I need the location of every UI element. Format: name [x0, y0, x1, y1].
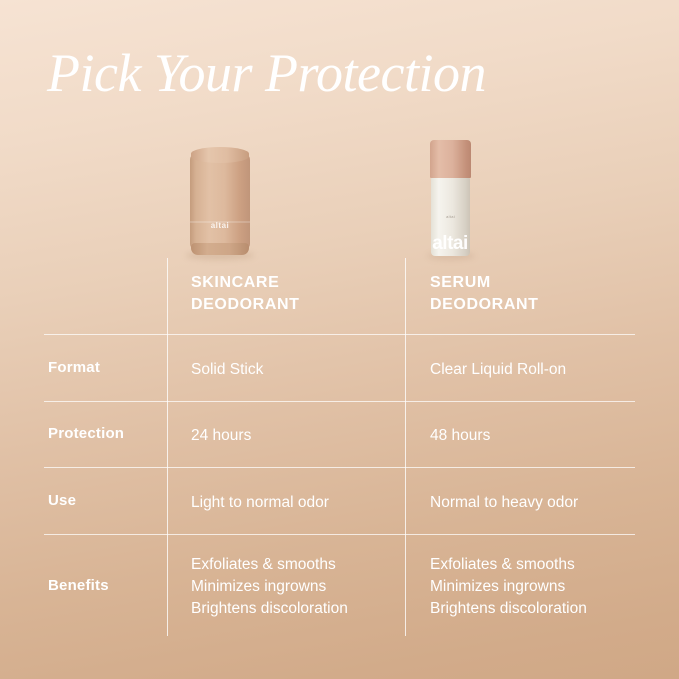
table-row-label-format: Format: [48, 359, 100, 376]
serum-cap: [430, 140, 471, 178]
table-row-divider-1: [44, 334, 635, 335]
table-column-divider-2: [405, 258, 406, 636]
stick-body: [190, 153, 250, 249]
table-row-label-benefits: Benefits: [48, 577, 109, 594]
stick-cap: [191, 147, 249, 163]
promo-canvas: Pick Your Protection altai altai altai S…: [0, 0, 679, 679]
table-row-label-use: Use: [48, 492, 76, 509]
table-cell-format-skincare: Solid Stick: [191, 359, 263, 381]
product-images-row: altai altai altai: [0, 0, 679, 260]
table-cell-benefits-skincare: Exfoliates & smooths Minimizes ingrowns …: [191, 554, 348, 620]
serum-brand-logo: altai: [426, 234, 474, 254]
serum-deodorant-product-image: altai altai: [430, 140, 471, 256]
table-cell-format-serum: Clear Liquid Roll-on: [430, 359, 566, 381]
table-row-divider-2: [44, 401, 635, 402]
table-cell-protection-serum: 48 hours: [430, 425, 490, 447]
table-cell-benefits-serum: Exfoliates & smooths Minimizes ingrowns …: [430, 554, 587, 620]
table-cell-use-skincare: Light to normal odor: [191, 492, 329, 514]
table-row-label-protection: Protection: [48, 425, 124, 442]
table-column-divider-1: [167, 258, 168, 636]
table-column-header-serum-deodorant: SERUM DEODORANT: [430, 272, 539, 316]
skincare-deodorant-product-image: altai: [190, 147, 250, 255]
table-cell-use-serum: Normal to heavy odor: [430, 492, 578, 514]
table-cell-protection-skincare: 24 hours: [191, 425, 251, 447]
table-row-divider-4: [44, 534, 635, 535]
table-row-divider-3: [44, 467, 635, 468]
table-column-header-skincare-deodorant: SKINCARE DEODORANT: [191, 272, 300, 316]
stick-brand-logo: altai: [190, 221, 250, 230]
serum-small-label: altai: [431, 214, 470, 219]
stick-base: [191, 243, 249, 255]
